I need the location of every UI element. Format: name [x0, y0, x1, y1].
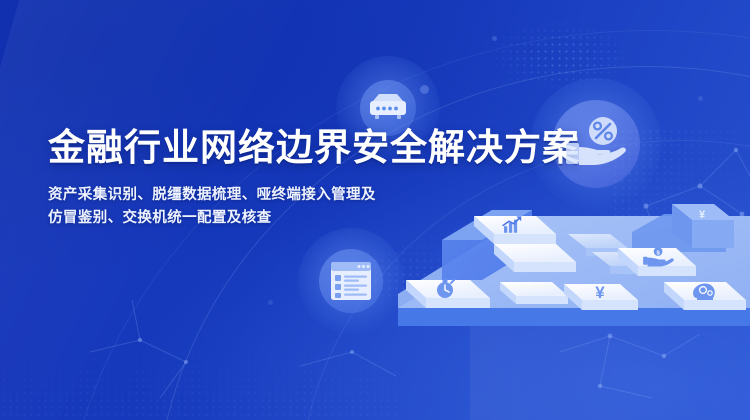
page-subtitle: 资产采集识别、脱缰数据梳理、哑终端接入管理及 仿冒鉴别、交换机统一配置及核查 [48, 184, 408, 230]
yen-symbol-glyph: ¥ [595, 283, 605, 302]
document-list-icon [328, 259, 374, 303]
yen-block-glyph: ¥ [699, 209, 706, 221]
hand-percent-icon [561, 115, 631, 173]
server-icon [365, 91, 411, 125]
subtitle-line-1: 资产采集识别、脱缰数据梳理、哑终端接入管理及 [48, 184, 408, 207]
spark-dot-4 [698, 96, 703, 101]
subtitle-line-2: 仿冒鉴别、交换机统一配置及核查 [48, 207, 408, 230]
dot-texture-bottom [0, 320, 400, 420]
page-title: 金融行业网络边界安全解决方案 [48, 126, 580, 170]
badge-document [298, 228, 404, 334]
isometric-illustration: ¥ [396, 186, 750, 366]
banner-root: ¥ [0, 0, 750, 420]
spark-dot-5 [268, 300, 273, 305]
spark-dot-2 [492, 36, 497, 41]
